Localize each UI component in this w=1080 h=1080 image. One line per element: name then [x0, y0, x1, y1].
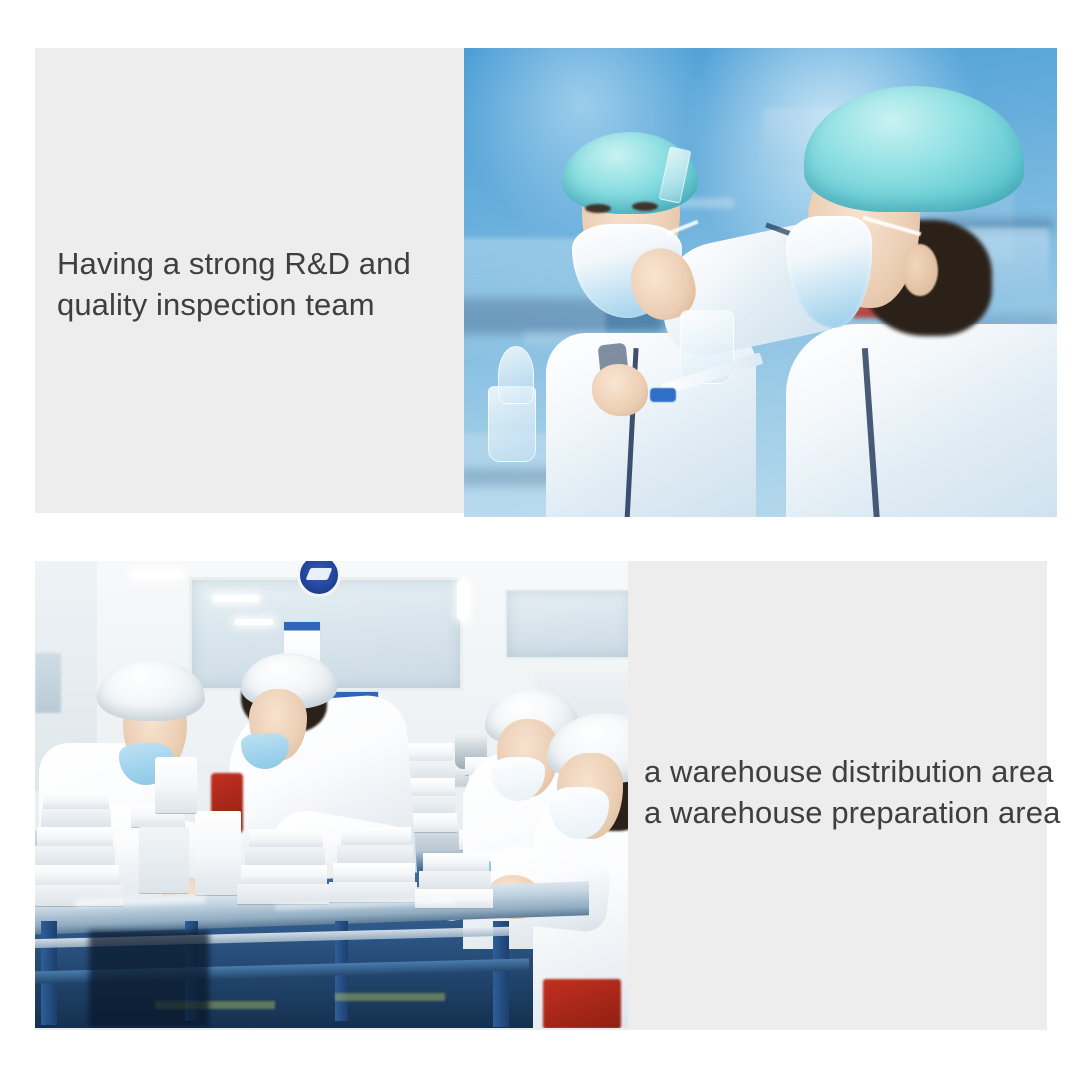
carton-left-3	[37, 827, 113, 846]
carton-left-4	[35, 846, 115, 865]
flask-on-counter	[498, 346, 534, 404]
rnd-quality-caption: Having a strong R&D and quality inspecti…	[57, 243, 411, 325]
carton-mid-3	[241, 865, 327, 884]
interior-window-right	[505, 589, 628, 659]
ceiling-light-3	[131, 571, 183, 579]
carton-mid-2	[245, 847, 325, 865]
worker-b-coat	[786, 324, 1057, 517]
worker-b-ear	[902, 244, 938, 296]
carton-upright-2	[139, 827, 189, 893]
wall-panel-left	[35, 653, 61, 713]
carton-mid-1	[249, 829, 323, 847]
pipette-bulb	[650, 388, 676, 402]
warehouse-caption-line-1: a warehouse distribution area	[644, 751, 1060, 792]
ceiling-light-1	[213, 595, 259, 602]
warehouse-caption: a warehouse distribution area a warehous…	[644, 751, 1060, 833]
rnd-quality-caption-line-2: quality inspection team	[57, 284, 411, 325]
carton-left-2	[41, 809, 111, 827]
rnd-lab-photo	[464, 48, 1057, 517]
warehouse-caption-line-2: a warehouse preparation area	[644, 792, 1060, 833]
worker-4-red-item	[543, 979, 621, 1028]
worker-a-eye-right	[632, 202, 658, 211]
carton-left-5	[35, 865, 119, 885]
carton-tall-bottle	[155, 757, 197, 813]
floor-marking-2	[335, 993, 445, 1001]
worker-a-hand	[592, 364, 648, 416]
slide-canvas: Having a strong R&D and quality inspecti…	[0, 0, 1080, 1080]
rnd-quality-caption-line-1: Having a strong R&D and	[57, 243, 411, 284]
ceiling-light-2	[235, 619, 273, 625]
worker-a-eye-left	[585, 204, 611, 213]
carton-midr-1	[341, 827, 411, 845]
carton-midr-2	[337, 845, 413, 863]
under-table-shadow	[89, 931, 209, 1027]
carton-left-1	[43, 791, 109, 809]
carton-right-1	[423, 853, 489, 871]
hanging-strip	[457, 579, 469, 621]
carton-midr-3	[333, 863, 415, 882]
carton-mid-4	[237, 884, 329, 904]
table-leg-4	[493, 921, 509, 1027]
warehouse-packing-photo	[35, 561, 628, 1028]
carton-right-2	[419, 871, 491, 889]
sign-glyph	[306, 568, 333, 580]
carton-upright-3	[195, 811, 241, 895]
